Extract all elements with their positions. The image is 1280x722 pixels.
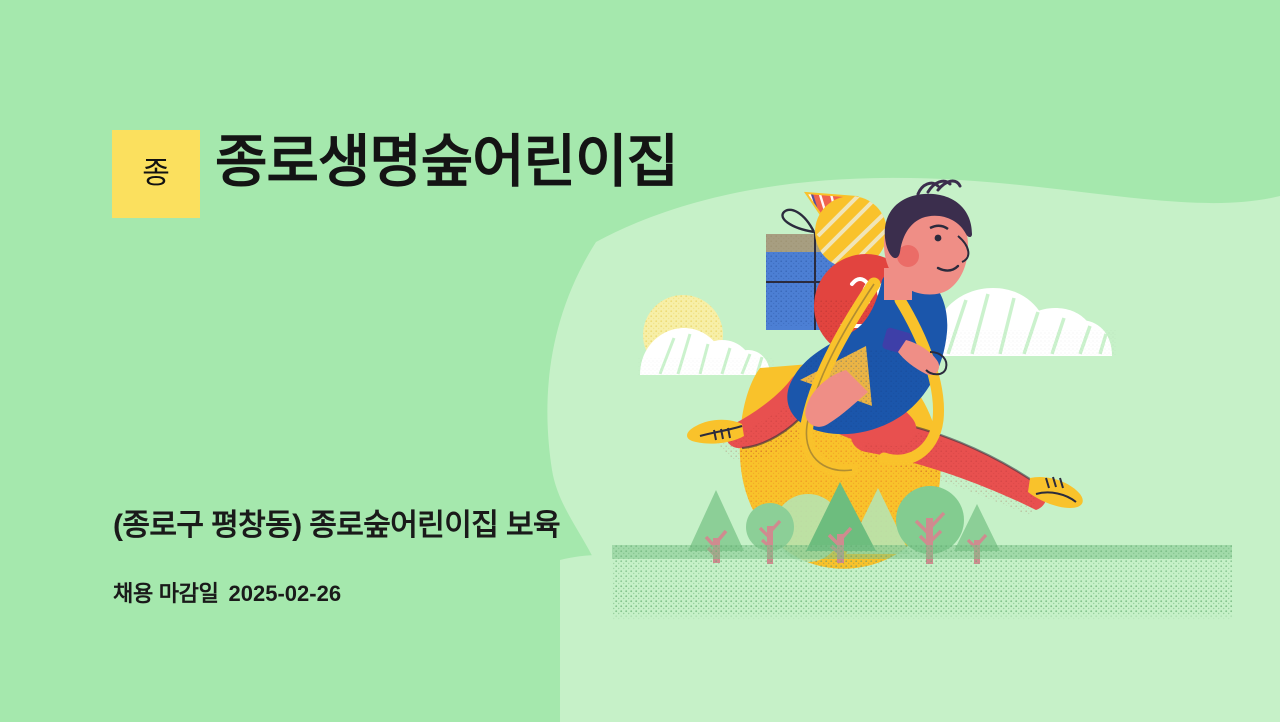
application-deadline: 채용 마감일2025-02-26: [113, 576, 341, 608]
deadline-date: 2025-02-26: [229, 581, 342, 606]
job-poster-card: 종 종로생명숲어린이집 (종로구 평창동) 종로숲어린이집 보육 채용 마감일2…: [0, 0, 1280, 722]
company-logo-initial: 종: [142, 159, 170, 189]
company-logo-badge: 종: [112, 130, 200, 218]
job-subtitle: (종로구 평창동) 종로숲어린이집 보육: [113, 500, 560, 544]
text-layer: 종 종로생명숲어린이집 (종로구 평창동) 종로숲어린이집 보육 채용 마감일2…: [0, 0, 1280, 722]
page-title: 종로생명숲어린이집: [215, 133, 678, 193]
deadline-label: 채용 마감일: [113, 581, 219, 606]
